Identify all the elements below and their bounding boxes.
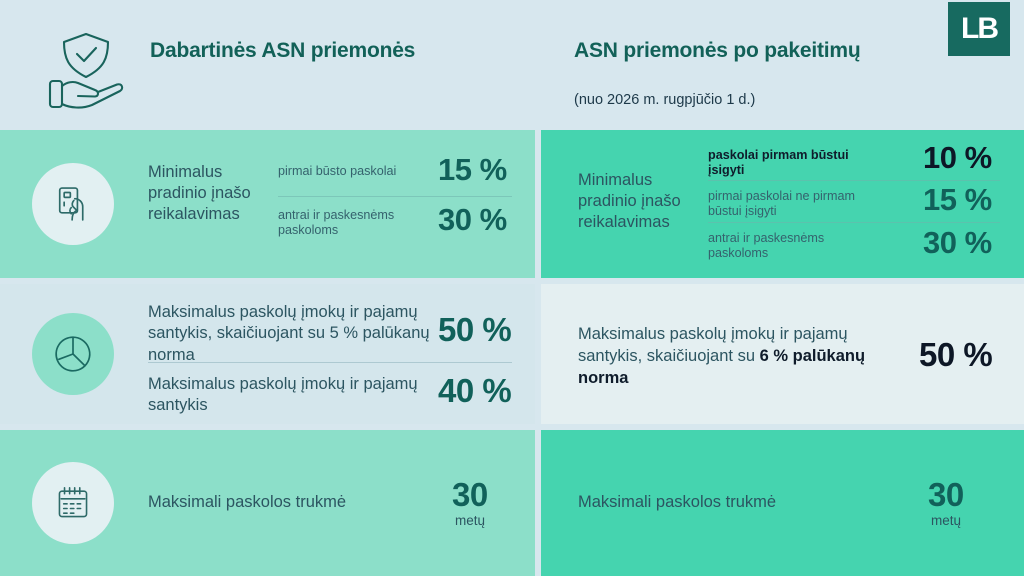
pie-chart-icon <box>32 313 114 395</box>
row2-right-value: 50 % <box>919 336 992 374</box>
row2-left-item-1-label: Maksimalus paskolų įmokų ir pajamų santy… <box>148 374 438 417</box>
infographic-root: Dabartinės ASN priemonės ASN priemonės p… <box>0 0 1024 576</box>
row2-left-panel: Maksimalus paskolų įmokų ir pajamų santy… <box>0 284 535 424</box>
lb-logo-text: LB <box>961 14 997 44</box>
row1-left-item-0: pirmai būsto paskolai <box>278 164 418 179</box>
row1-right-item-1-label: pirmai paskolai ne pirmam būstui įsigyti <box>708 189 868 220</box>
row3-left-label: Maksimali paskolos trukmė <box>148 492 478 513</box>
lb-logo: LB <box>948 2 1010 56</box>
row1-right-divider-0 <box>708 180 1000 181</box>
row1-left-item-0-label: pirmai būsto paskolai <box>278 164 418 179</box>
hand-holding-card-icon <box>32 163 114 245</box>
row1-left-item-0-value: 15 % <box>438 152 507 188</box>
row1-left-item-1-label: antrai ir paskesnėms paskoloms <box>278 208 428 239</box>
row3-right-panel: Maksimali paskolos trukmė 30 metų <box>541 430 1024 576</box>
row2-left-item-0-label: Maksimalus paskolų įmokų ir pajamų santy… <box>148 302 438 366</box>
row1-right-item-1-value: 15 % <box>923 182 992 218</box>
row1-left-item-1: antrai ir paskesnėms paskoloms <box>278 208 428 239</box>
row3-right-value: 30 <box>928 478 964 511</box>
row3-left-unit: metų <box>455 514 485 528</box>
row1-left-category: Minimalus pradinio įnašo reikalavimas <box>148 162 268 225</box>
page-title-left: Dabartinės ASN priemonės <box>150 38 480 64</box>
row3-right-label: Maksimali paskolos trukmė <box>578 492 908 513</box>
row3-left-value: 30 <box>452 478 488 511</box>
row1-left-panel: Minimalus pradinio įnašo reikalavimas pi… <box>0 130 535 278</box>
row-dsti-ratio: Maksimalus paskolų įmokų ir pajamų santy… <box>0 284 1024 424</box>
row2-right-label: Maksimalus paskolų įmokų ir pajamų santy… <box>578 324 878 389</box>
row1-left-divider <box>278 196 512 197</box>
calendar-icon <box>32 462 114 544</box>
row1-right-divider-1 <box>708 222 1000 223</box>
row-max-loan-term: Maksimali paskolos trukmė 30 metų Maksim… <box>0 430 1024 576</box>
page-subtitle-right: (nuo 2026 m. rugpjūčio 1 d.) <box>574 92 934 109</box>
row3-left-panel: Maksimali paskolos trukmė 30 metų <box>0 430 535 576</box>
row1-right-item-0-value: 10 % <box>923 140 992 176</box>
row1-right-item-0-label: paskolai pirmam būstui įsigyti <box>708 148 868 179</box>
shield-check-in-hand-icon <box>40 24 132 112</box>
row2-left-item-1-value: 40 % <box>438 372 511 410</box>
row3-right-unit: metų <box>931 514 961 528</box>
row1-right-item-2-label: antrai ir paskesnėms paskoloms <box>708 231 868 262</box>
row1-left-item-1-value: 30 % <box>438 202 507 238</box>
header: Dabartinės ASN priemonės ASN priemonės p… <box>0 0 1024 128</box>
row1-right-item-2-value: 30 % <box>923 225 992 261</box>
row-minimum-down-payment: Minimalus pradinio įnašo reikalavimas pi… <box>0 130 1024 278</box>
row1-right-panel: Minimalus pradinio įnašo reikalavimas pa… <box>541 130 1024 278</box>
row2-right-panel: Maksimalus paskolų įmokų ir pajamų santy… <box>541 284 1024 424</box>
row2-left-item-0-value: 50 % <box>438 311 511 349</box>
row1-right-category: Minimalus pradinio įnašo reikalavimas <box>578 170 698 233</box>
row2-left-divider <box>148 362 512 363</box>
page-title-right: ASN priemonės po pakeitimų <box>574 38 914 64</box>
